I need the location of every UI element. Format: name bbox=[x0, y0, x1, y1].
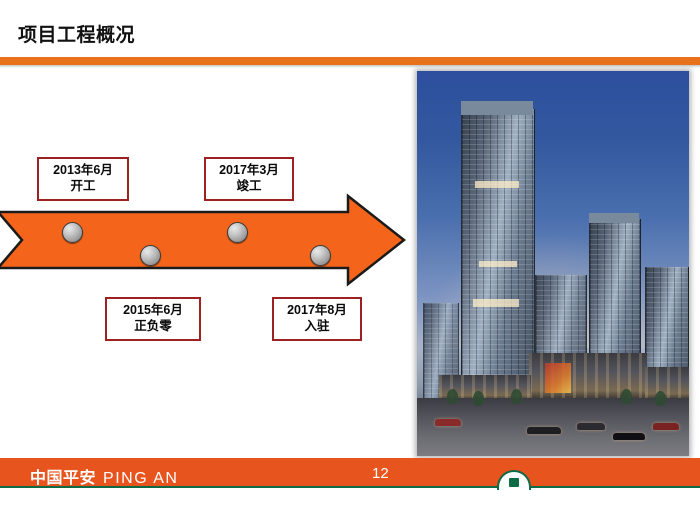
photo-tree-2 bbox=[473, 391, 484, 406]
photo-car-1 bbox=[435, 419, 461, 426]
milestone-event-4: 入驻 bbox=[280, 319, 354, 335]
project-rendering-photo bbox=[417, 71, 689, 456]
timeline-arrow bbox=[0, 188, 411, 293]
photo-car-2 bbox=[527, 427, 561, 434]
brand-name-cn: 中国平安 bbox=[30, 470, 96, 487]
photo-tower-main-cap bbox=[461, 101, 533, 115]
milestone-node-4 bbox=[310, 245, 331, 266]
milestone-event-2: 正负零 bbox=[113, 319, 193, 335]
brand-logo: 中国平安PING AN bbox=[30, 464, 178, 488]
milestone-label-3: 2017年3月 竣工 bbox=[204, 157, 294, 201]
brand-name-en: PING AN bbox=[103, 470, 178, 487]
photo-tree-5 bbox=[655, 391, 666, 406]
photo-car-4 bbox=[613, 433, 645, 440]
milestone-event-1: 开工 bbox=[45, 179, 121, 195]
milestone-date-3: 2017年3月 bbox=[212, 163, 286, 179]
photo-tree-3 bbox=[511, 389, 522, 404]
milestone-node-3 bbox=[227, 222, 248, 243]
milestone-date-4: 2017年8月 bbox=[280, 303, 354, 319]
photo-tower-second-cap bbox=[589, 213, 639, 223]
photo-tree-4 bbox=[621, 389, 632, 404]
page-number: 12 bbox=[372, 465, 389, 482]
milestone-event-3: 竣工 bbox=[212, 179, 286, 195]
milestone-label-4: 2017年8月 入驻 bbox=[272, 297, 362, 341]
milestone-label-2: 2015年6月 正负零 bbox=[105, 297, 201, 341]
milestone-label-1: 2013年6月 开工 bbox=[37, 157, 129, 201]
bottom-margin bbox=[0, 490, 700, 525]
milestone-node-2 bbox=[140, 245, 161, 266]
photo-lit-band-1 bbox=[475, 181, 519, 188]
photo-billboard bbox=[545, 363, 571, 393]
slide-canvas: 项目工程概况 2013年6月 开工 2015年6月 正负零 2017年3月 竣工… bbox=[0, 0, 700, 525]
photo-tower-main bbox=[461, 109, 535, 409]
title-divider-shadow bbox=[0, 65, 700, 68]
page-title: 项目工程概况 bbox=[18, 20, 135, 47]
milestone-node-1 bbox=[62, 222, 83, 243]
title-divider-bar bbox=[0, 57, 700, 65]
milestone-date-1: 2013年6月 bbox=[45, 163, 121, 179]
photo-car-3 bbox=[577, 423, 605, 430]
pingan-arch-emblem-icon bbox=[497, 468, 531, 490]
photo-car-5 bbox=[653, 423, 679, 430]
photo-tree-1 bbox=[447, 389, 458, 404]
milestone-date-2: 2015年6月 bbox=[113, 303, 193, 319]
photo-podium-right bbox=[645, 367, 689, 401]
photo-lit-band-2 bbox=[479, 261, 517, 267]
emblem-chip-shape bbox=[509, 478, 519, 487]
photo-lit-band-3 bbox=[473, 299, 519, 307]
